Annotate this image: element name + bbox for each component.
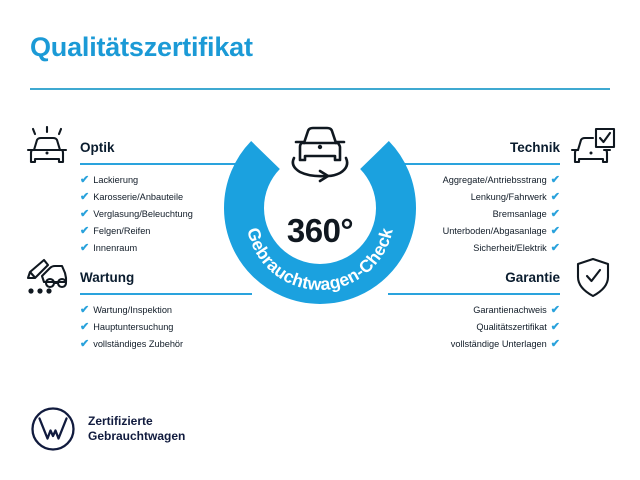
- check-icon: ✔: [551, 175, 560, 186]
- check-icon: ✔: [551, 322, 560, 333]
- list-item-label: Bremsanlage: [493, 210, 547, 219]
- list-item-label: Garantienachweis: [473, 306, 547, 315]
- footer-line-1: Zertifizierte: [88, 414, 185, 429]
- list-item: ✔ Hauptuntersuchung: [80, 319, 183, 336]
- check-icon: ✔: [80, 192, 89, 203]
- list-item: ✔ Innenraum: [80, 240, 193, 257]
- list-item: Qualitätszertifikat ✔: [451, 319, 560, 336]
- section-garantie: Garantie Garantienachweis ✔ Qualitätszer…: [386, 256, 616, 302]
- list-item-label: Unterboden/Abgasanlage: [443, 227, 547, 236]
- list-item: ✔ Karosserie/Anbauteile: [80, 189, 193, 206]
- check-icon: ✔: [551, 192, 560, 203]
- check-icon: ✔: [551, 305, 560, 316]
- section-optik-items: ✔ Lackierung ✔ Karosserie/Anbauteile ✔ V…: [80, 172, 193, 257]
- section-garantie-title: Garantie: [505, 270, 560, 285]
- check-icon: ✔: [551, 209, 560, 220]
- check-icon: ✔: [80, 243, 89, 254]
- certificate-page: Qualitätszertifikat Optik ✔: [0, 0, 640, 480]
- list-item: Sicherheit/Elektrik ✔: [443, 240, 560, 257]
- footer-brand: Zertifizierte Gebrauchtwagen: [30, 406, 185, 452]
- section-wartung: Wartung ✔ Wartung/Inspektion ✔ Hauptunte…: [24, 256, 254, 302]
- check-icon: ✔: [80, 226, 89, 237]
- car-shine-icon: [24, 126, 70, 170]
- car-checkbox-icon: [570, 126, 616, 170]
- list-item: vollständige Unterlagen ✔: [451, 336, 560, 353]
- check-icon: ✔: [80, 322, 89, 333]
- list-item: Garantienachweis ✔: [451, 302, 560, 319]
- list-item: Bremsanlage ✔: [443, 206, 560, 223]
- page-title: Qualitätszertifikat: [30, 32, 253, 63]
- list-item: Aggregate/Antriebsstrang ✔: [443, 172, 560, 189]
- shield-check-icon: [570, 256, 616, 300]
- list-item: ✔ Felgen/Reifen: [80, 223, 193, 240]
- car-service-pen-icon: [24, 256, 70, 300]
- car-rotation-icon: [282, 122, 358, 184]
- check-icon: ✔: [80, 305, 89, 316]
- list-item-label: vollständige Unterlagen: [451, 340, 547, 349]
- list-item: Lenkung/Fahrwerk ✔: [443, 189, 560, 206]
- section-wartung-items: ✔ Wartung/Inspektion ✔ Hauptuntersuchung…: [80, 302, 183, 353]
- list-item: ✔ vollständiges Zubehör: [80, 336, 183, 353]
- list-item-label: Innenraum: [93, 244, 137, 253]
- section-technik: Technik Aggregate/Antriebsstrang ✔ Lenku…: [386, 126, 616, 172]
- check-icon: ✔: [551, 339, 560, 350]
- list-item-label: vollständiges Zubehör: [93, 340, 183, 349]
- list-item-label: Hauptuntersuchung: [93, 323, 173, 332]
- list-item-label: Felgen/Reifen: [93, 227, 150, 236]
- list-item-label: Aggregate/Antriebsstrang: [443, 176, 547, 185]
- footer-text: Zertifizierte Gebrauchtwagen: [88, 414, 185, 445]
- footer-line-2: Gebrauchtwagen: [88, 429, 185, 444]
- section-wartung-header: Wartung: [24, 256, 254, 302]
- list-item: ✔ Verglasung/Beleuchtung: [80, 206, 193, 223]
- list-item-label: Lenkung/Fahrwerk: [471, 193, 547, 202]
- list-item-label: Qualitätszertifikat: [476, 323, 546, 332]
- section-optik-header: Optik: [24, 126, 254, 172]
- section-technik-items: Aggregate/Antriebsstrang ✔ Lenkung/Fahrw…: [443, 172, 560, 257]
- section-garantie-header: Garantie: [386, 256, 616, 302]
- section-technik-title: Technik: [510, 140, 560, 155]
- check-icon: ✔: [80, 175, 89, 186]
- check-icon: ✔: [551, 226, 560, 237]
- list-item-label: Wartung/Inspektion: [93, 306, 172, 315]
- list-item-label: Karosserie/Anbauteile: [93, 193, 183, 202]
- check-icon: ✔: [80, 209, 89, 220]
- list-item: ✔ Wartung/Inspektion: [80, 302, 183, 319]
- list-item: ✔ Lackierung: [80, 172, 193, 189]
- section-technik-header: Technik: [386, 126, 616, 172]
- section-wartung-title: Wartung: [80, 270, 134, 285]
- section-garantie-items: Garantienachweis ✔ Qualitätszertifikat ✔…: [451, 302, 560, 353]
- check-icon: ✔: [551, 243, 560, 254]
- volkswagen-logo: [30, 406, 76, 452]
- section-optik-title: Optik: [80, 140, 115, 155]
- badge-360-value: 360°: [222, 212, 418, 250]
- section-optik: Optik ✔ Lackierung ✔ Karosserie/Anbautei…: [24, 126, 254, 172]
- check-icon: ✔: [80, 339, 89, 350]
- list-item-label: Lackierung: [93, 176, 138, 185]
- list-item: Unterboden/Abgasanlage ✔: [443, 223, 560, 240]
- list-item-label: Sicherheit/Elektrik: [473, 244, 547, 253]
- list-item-label: Verglasung/Beleuchtung: [93, 210, 193, 219]
- title-divider: [30, 88, 610, 90]
